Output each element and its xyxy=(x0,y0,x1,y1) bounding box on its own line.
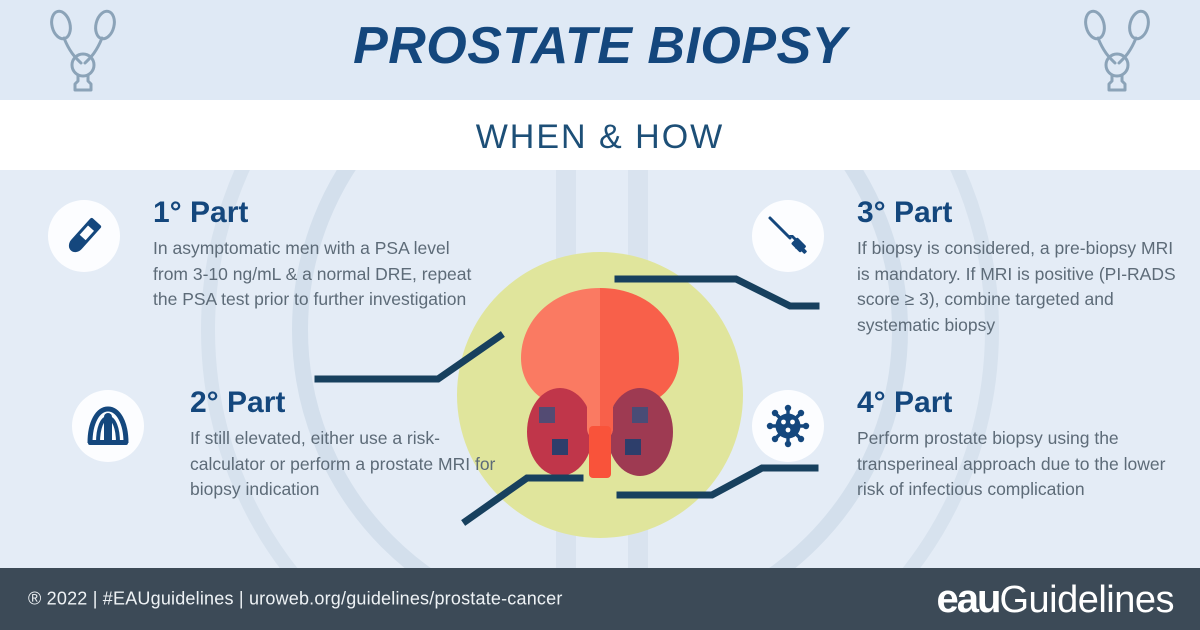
mri-scanner-icon xyxy=(72,390,144,462)
footer-bar: ® 2022 | #EAUguidelines | uroweb.org/gui… xyxy=(0,568,1200,630)
block-part-4-text: 4° Part Perform prostate biopsy using th… xyxy=(857,388,1187,503)
biopsy-needle-icon xyxy=(752,200,824,272)
block-part-2-text: 2° Part If still elevated, either use a … xyxy=(190,388,508,503)
block-part-4-body: Perform prostate biopsy using the transp… xyxy=(857,426,1187,503)
content-area: 1° Part In asymptomatic men with a PSA l… xyxy=(0,0,1200,630)
block-part-3-text: 3° Part If biopsy is considered, a pre-b… xyxy=(857,198,1187,338)
block-part-4-heading: 4° Part xyxy=(857,388,1187,418)
logo-wordmark: Guidelines xyxy=(999,581,1174,619)
block-part-1-text: 1° Part In asymptomatic men with a PSA l… xyxy=(153,198,473,313)
footer-attribution: ® 2022 | #EAUguidelines | uroweb.org/gui… xyxy=(28,589,563,610)
block-part-1-heading: 1° Part xyxy=(153,198,473,228)
test-tube-icon xyxy=(48,200,120,272)
block-part-3-body: If biopsy is considered, a pre-biopsy MR… xyxy=(857,236,1187,338)
eau-guidelines-logo: eau Guidelines xyxy=(937,579,1175,619)
infographic-canvas: PROSTATE BIOPSY WHEN & HOW xyxy=(0,0,1200,630)
block-part-3-heading: 3° Part xyxy=(857,198,1187,228)
block-part-1-body: In asymptomatic men with a PSA level fro… xyxy=(153,236,473,313)
block-part-2-heading: 2° Part xyxy=(190,388,508,418)
virus-icon xyxy=(752,390,824,462)
block-part-2-body: If still elevated, either use a risk-cal… xyxy=(190,426,508,503)
logo-mark: eau xyxy=(937,579,1000,619)
